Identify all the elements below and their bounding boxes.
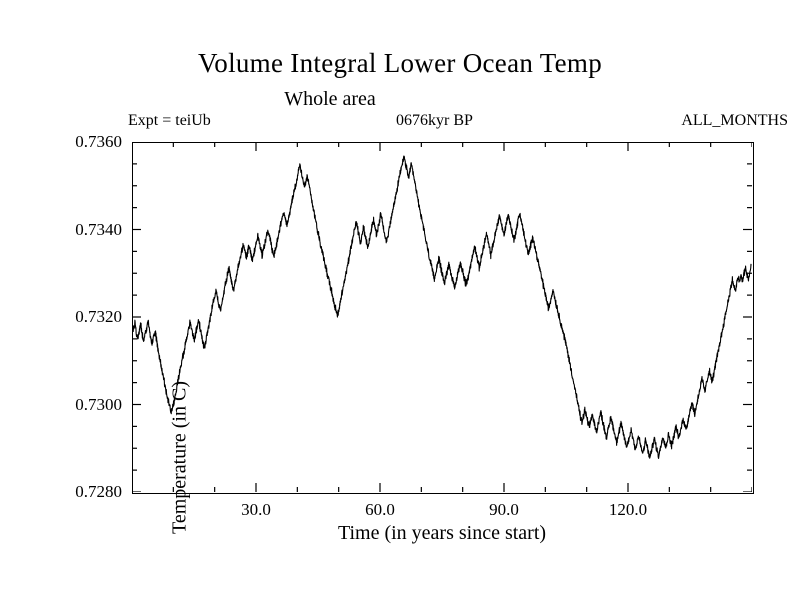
y-tick-label: 0.7340 <box>36 221 122 238</box>
x-tick-label: 60.0 <box>340 500 420 520</box>
axis-ticks <box>132 142 752 492</box>
y-tick-label: 0.7280 <box>36 483 122 500</box>
experiment-label: Expt = teiUb <box>128 112 211 130</box>
x-tick-label: 30.0 <box>216 500 296 520</box>
y-tick-label: 0.7300 <box>36 396 122 413</box>
y-tick-label: 0.7320 <box>36 308 122 325</box>
period-label: 0676kyr BP <box>396 112 473 130</box>
page-title: Volume Integral Lower Ocean Temp <box>0 48 800 79</box>
x-tick-label: 120.0 <box>588 500 668 520</box>
plot-subtitle: Whole area <box>0 88 660 111</box>
annotation-row: Expt = teiUb 0676kyr BP ALL_MONTHS <box>128 112 788 134</box>
plot-page: Volume Integral Lower Ocean Temp Whole a… <box>0 0 800 600</box>
y-axis-title: Temperature (in C) <box>169 348 192 568</box>
y-tick-label: 0.7360 <box>36 133 122 150</box>
months-label: ALL_MONTHS <box>681 112 788 130</box>
plot-area: Temperature (in C) <box>132 142 752 492</box>
series-canvas <box>132 142 752 492</box>
x-tick-labels: 30.060.090.0120.0 <box>132 500 752 524</box>
y-tick-labels: 0.72800.73000.73200.73400.7360 <box>36 142 122 492</box>
x-axis-title: Time (in years since start) <box>132 522 752 545</box>
data-series-line <box>132 156 751 458</box>
x-tick-label: 90.0 <box>464 500 544 520</box>
